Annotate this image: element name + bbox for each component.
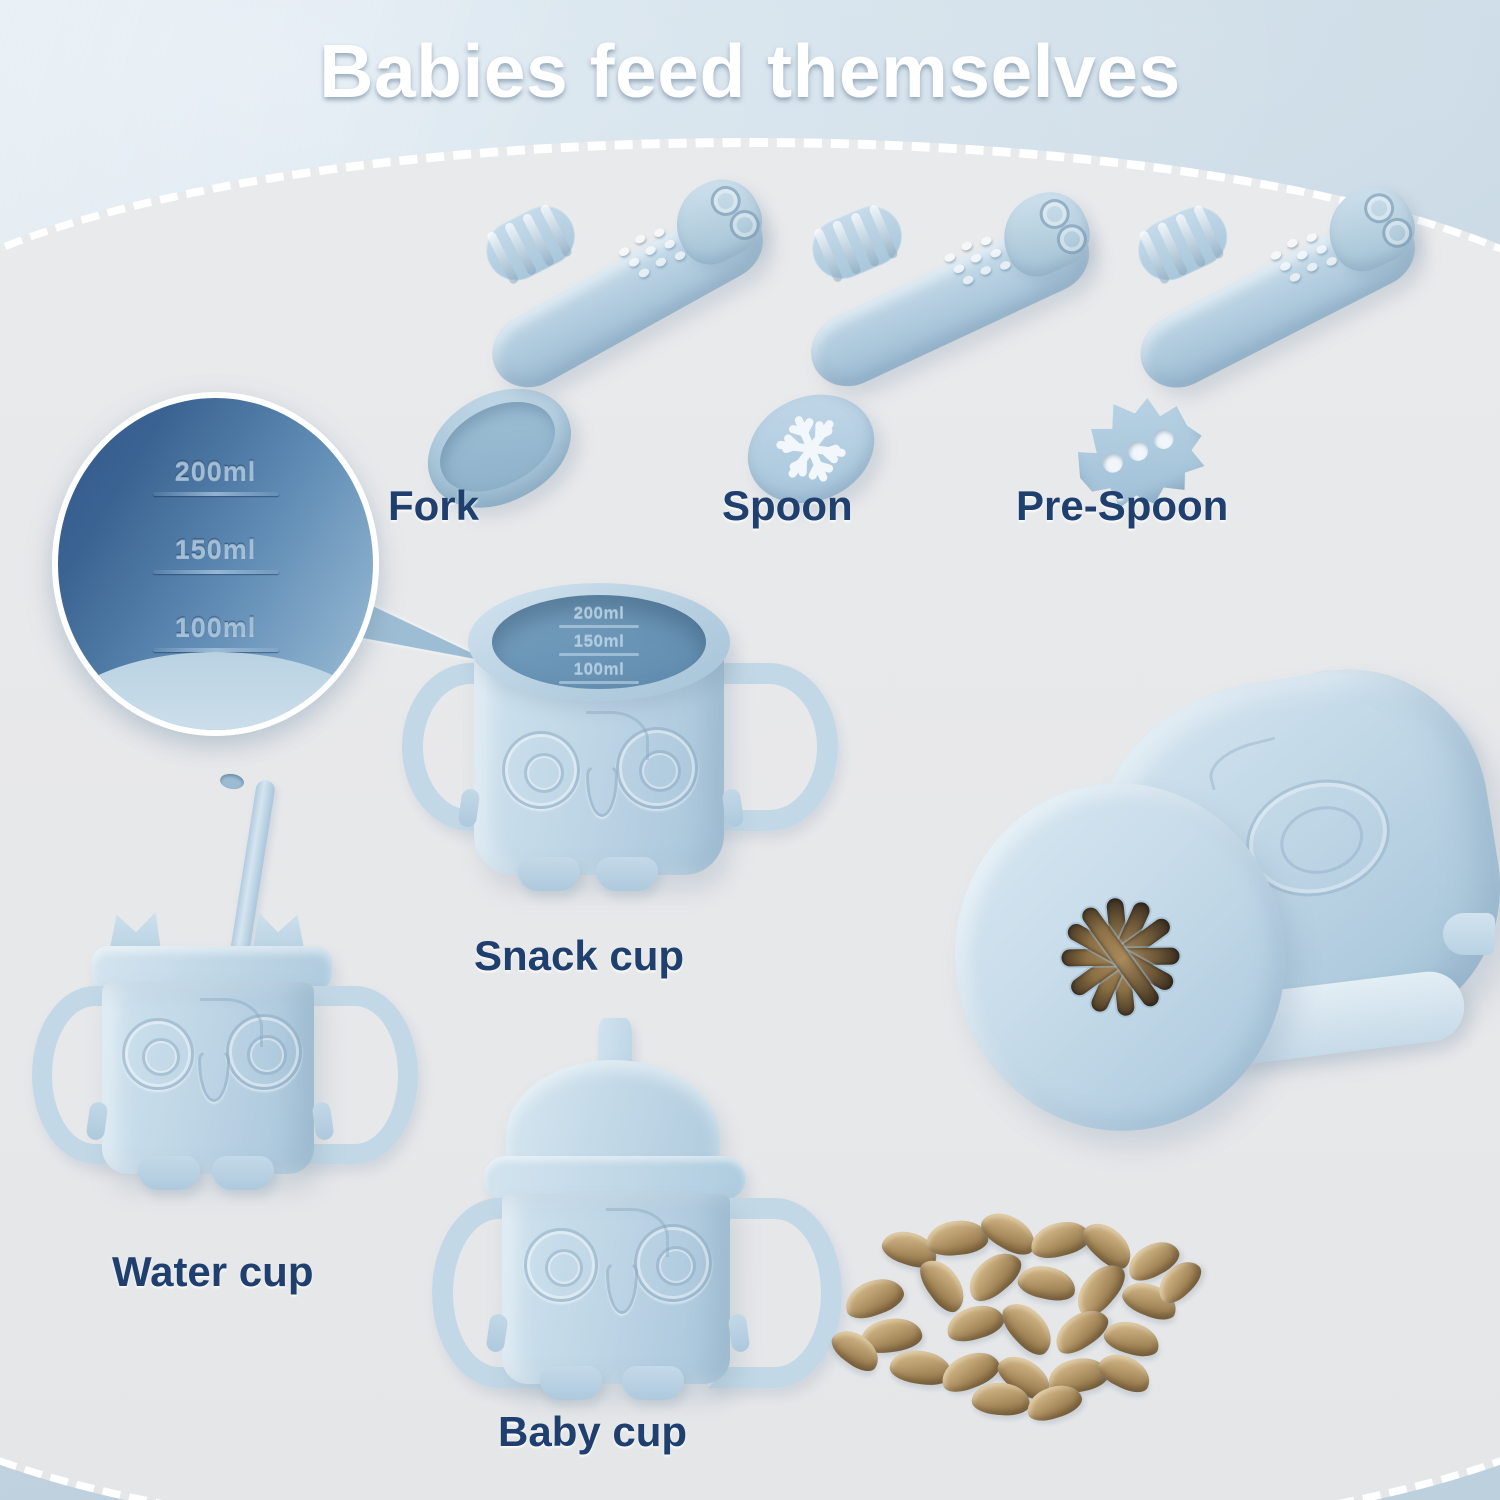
pre-spoon-hole [1125, 438, 1152, 465]
snack-container [945, 655, 1500, 1215]
page-title: Babies feed themselves [0, 28, 1500, 114]
pre-spoon-hole [1150, 426, 1177, 453]
almond-pile [830, 1215, 1210, 1415]
snack-cup-mark-label: 200ml [574, 603, 625, 622]
magnifier-cup-base [52, 652, 379, 736]
magnifier-mark: 100ml [58, 612, 373, 652]
baby-cup-foot [540, 1366, 602, 1400]
label-snack-cup: Snack cup [474, 932, 684, 980]
almond [840, 1272, 908, 1324]
label-fork: Fork [388, 482, 479, 530]
pre-spoon-hole [1099, 449, 1126, 476]
baby-cup-foot [622, 1366, 684, 1400]
magnifier-mark: 150ml [58, 534, 373, 574]
water-cup-body [102, 982, 314, 1174]
baby-cup-body [502, 1194, 730, 1384]
label-water-cup: Water cup [112, 1248, 313, 1296]
snack-cup-interior: 200ml 150ml 100ml [492, 595, 706, 689]
snack-cup-mark-label: 100ml [574, 659, 625, 678]
water-cup-foot [212, 1156, 274, 1190]
magnifier-mark: 200ml [58, 456, 373, 496]
snack-cup-foot [596, 857, 658, 891]
label-pre-spoon: Pre-Spoon [1016, 482, 1228, 530]
baby-cup [432, 1008, 802, 1408]
label-spoon: Spoon [722, 482, 853, 530]
water-cup-straw-opening [219, 772, 245, 791]
snack-container-tab [1443, 913, 1495, 955]
snack-cup-mark-label: 150ml [574, 631, 625, 650]
water-cup [30, 760, 380, 1230]
magnifier-mark-label: 150ml [175, 534, 257, 564]
snack-cup-mark: 150ml [492, 631, 706, 656]
water-cup-foot [138, 1156, 200, 1190]
snack-cup-mark: 200ml [492, 603, 706, 628]
magnifier-mark-label: 100ml [175, 612, 257, 642]
snack-cup-foot [518, 857, 580, 891]
label-baby-cup: Baby cup [498, 1408, 687, 1456]
snack-cup: 200ml 150ml 100ml [400, 575, 800, 905]
snack-cup-mark: 100ml [492, 659, 706, 684]
magnifier-circle: 200ml 150ml 100ml [52, 392, 379, 736]
infographic-stage: Babies feed themselves Fork [0, 0, 1500, 1500]
almond [1015, 1261, 1078, 1304]
almond [995, 1294, 1060, 1361]
magnifier-mark-label: 200ml [175, 456, 257, 486]
